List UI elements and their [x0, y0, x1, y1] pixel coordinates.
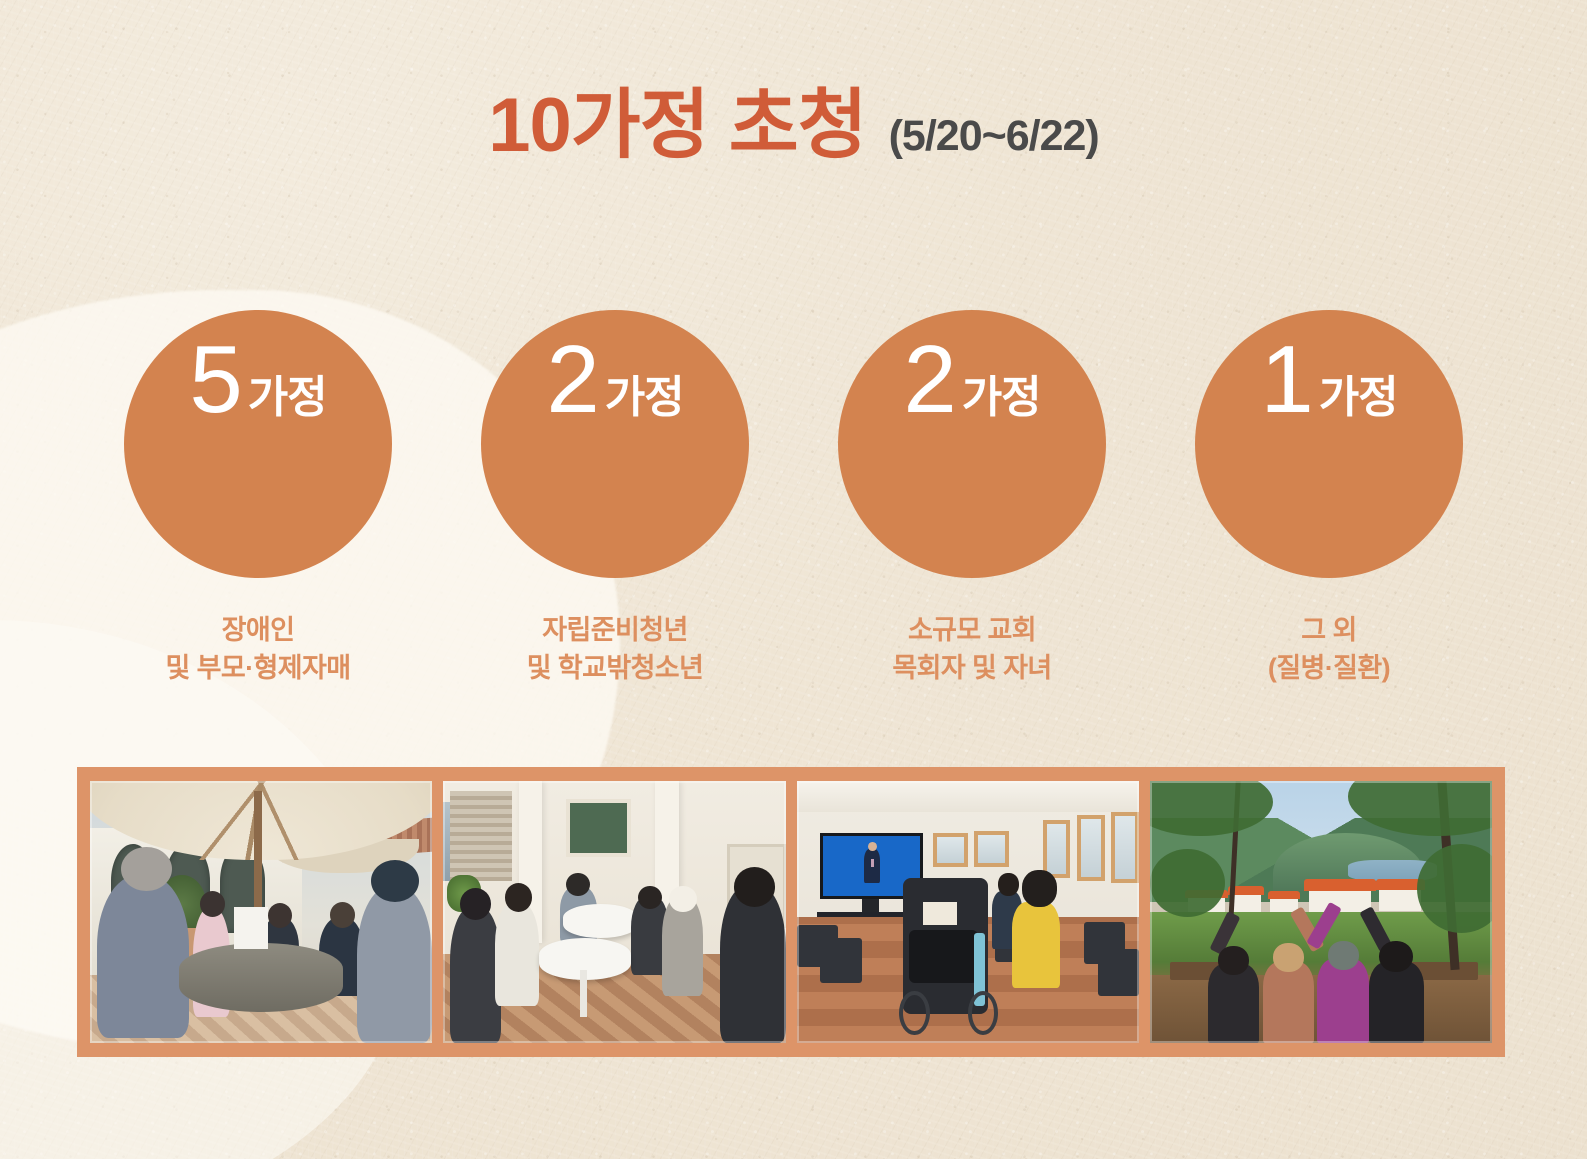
stat-bubble: 2 가정	[838, 310, 1106, 578]
poster-title-row: 10가정 초청 (5/20~6/22)	[0, 88, 1587, 164]
stat-caption-line1: 자립준비청년	[527, 611, 704, 649]
stat-unit: 가정	[605, 376, 684, 420]
stats-row: 5 가정 장애인 및 부모·형제자매 2 가정 자립준비청년 및 학교밖청소년	[0, 310, 1587, 688]
stat-bubble: 5 가정	[124, 310, 392, 578]
stat-item-youth: 2 가정 자립준비청년 및 학교밖청소년	[481, 310, 749, 688]
page-title: 10가정 초청	[488, 88, 866, 164]
stat-number: 2	[903, 332, 956, 428]
stat-number: 1	[1260, 332, 1313, 428]
stat-bubble: 2 가정	[481, 310, 749, 578]
stat-number: 2	[546, 332, 599, 428]
outdoor-patio-gathering-photo	[90, 781, 432, 1043]
stat-bubble: 1 가정	[1195, 310, 1463, 578]
photo-strip	[77, 767, 1505, 1057]
stat-unit: 가정	[962, 376, 1041, 420]
stat-number: 5	[189, 332, 242, 428]
stat-caption-line2: 및 학교밖청소년	[527, 649, 704, 687]
stat-caption-line2: (질병·질환)	[1268, 649, 1390, 687]
stat-caption: 소규모 교회 목회자 및 자녀	[892, 611, 1051, 688]
stat-caption-line1: 장애인	[166, 611, 351, 649]
poster-canvas: 10가정 초청 (5/20~6/22) 5 가정 장애인 및 부모·형제자매 2…	[0, 0, 1587, 1159]
stat-caption: 장애인 및 부모·형제자매	[166, 611, 351, 688]
stat-unit: 가정	[1319, 376, 1398, 420]
stat-caption: 그 외 (질병·질환)	[1268, 611, 1390, 688]
youth-group-indoor-tables-photo	[443, 781, 785, 1043]
stat-caption-line2: 목회자 및 자녀	[892, 649, 1051, 687]
title-date-range: (5/20~6/22)	[889, 115, 1099, 164]
stat-item-disability: 5 가정 장애인 및 부모·형제자매	[124, 310, 392, 688]
valley-view-heart-pose-photo	[1150, 781, 1492, 1043]
stat-item-other: 1 가정 그 외 (질병·질환)	[1195, 310, 1463, 688]
stat-caption-line1: 그 외	[1268, 611, 1390, 649]
stat-item-small-church: 2 가정 소규모 교회 목회자 및 자녀	[838, 310, 1106, 688]
stat-caption: 자립준비청년 및 학교밖청소년	[527, 611, 704, 688]
stat-unit: 가정	[248, 376, 327, 420]
stat-caption-line1: 소규모 교회	[892, 611, 1051, 649]
stat-caption-line2: 및 부모·형제자매	[166, 649, 351, 687]
hall-screen-wheelchair-audience-photo	[797, 781, 1139, 1043]
